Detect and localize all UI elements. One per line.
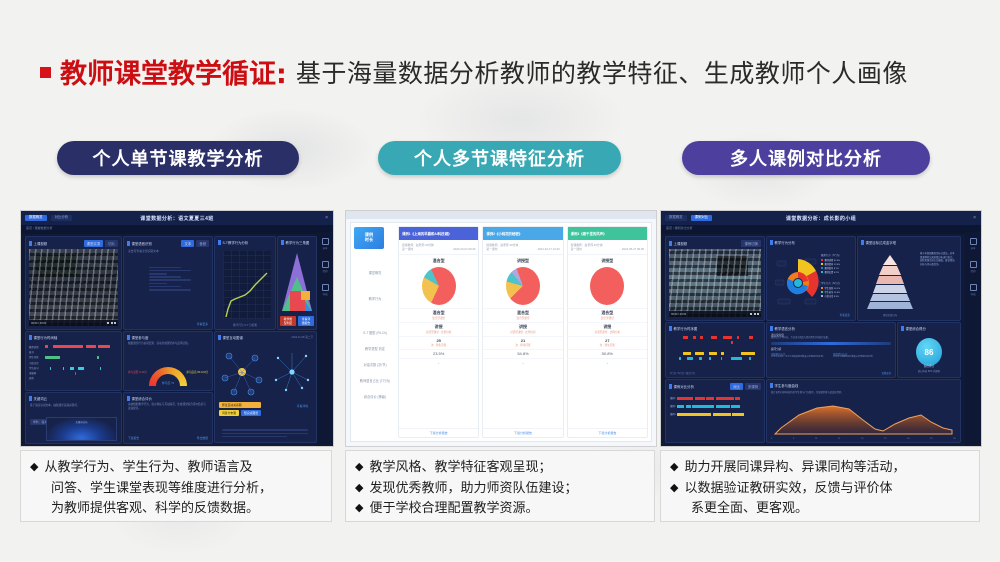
diamond-bullet-icon: ◆ <box>355 458 363 476</box>
dash2-col2-meta: 授课教师：赵老师 40分钟 第一课时2024-04-17 10:20 <box>483 240 562 255</box>
dash3-text-meter <box>771 342 891 345</box>
accent-bar-icon <box>127 396 130 401</box>
dash3-area-xticks: 0'5'10'15'20'25'30'35'40' <box>771 438 956 440</box>
accent-bar-icon <box>770 326 773 331</box>
dash3-card-radial[interactable]: 教学行为分布 教 <box>766 236 856 321</box>
dash1-pyramid-actions[interactable]: 教学类型判定 查看详细报告 <box>280 316 314 326</box>
dash2-col2-header: 课例2《小桃花的秘密》 <box>483 227 562 240</box>
dash2-row-labels: 课堂概况 教学行为 S-T 图型 (Rt-Ch) 教学类型 判定 对话次数 (次… <box>354 257 396 399</box>
dash3-compare-btn[interactable]: 对比 <box>730 383 743 390</box>
accent-bar-icon <box>29 241 32 246</box>
dash3-compare-tag[interactable]: 多课例 <box>745 383 761 390</box>
caption-line: 发现优秀教师，助力师资队伍建设； <box>369 479 645 499</box>
dash3-radial-legend-a: 教师行为（T行为） 教师讲授 32.5% 教师提问 12.4% 教师指导 8.7… <box>821 253 851 274</box>
accent-bar-icon <box>127 335 130 340</box>
dash3-card-text[interactable]: 教学语言分析 语言复杂度 教师语言平均句长、专业词汇密度与提问类型分布统计结果。… <box>766 322 896 378</box>
dash1-line-title: S-T教学行为分析 <box>223 240 249 245</box>
dash2-col3-stat-3: 27 次 · 师生问答 <box>568 336 647 349</box>
caption-single-lesson: ◆ 从教学行为、学生行为、教师语言及 问答、学生课堂表现等维度进行分析， 为教师… <box>20 450 332 522</box>
dash1-video-still[interactable]: 00:00 / 40:00 <box>29 249 118 326</box>
dash1-network-more[interactable]: 查看详情 <box>297 404 308 408</box>
dash2-col2-pie[interactable] <box>506 267 540 305</box>
dash1-btn-relation[interactable]: 师生互动关系图 <box>219 402 261 408</box>
dash2-col2-download[interactable]: 下载分析报告 <box>483 428 562 437</box>
caption-bullet: ◆ 发现优秀教师，助力师资队伍建设； <box>355 479 645 499</box>
dash2-col2-stat-1: 混合型 混合型课堂 <box>483 308 562 322</box>
dash1-transcript-btn-audio[interactable]: 音频 <box>196 240 209 247</box>
dash3-card-video[interactable]: 上课视频 课例切换 00:00 / 40:00 <box>665 236 765 321</box>
dash1-card-summary[interactable]: 课堂综合评价 系统根据教学行为、语言特征与互动情况，生成课堂综合评价结论与改进建… <box>123 392 213 444</box>
caption-line: 问答、学生课堂表现等维度进行分析， <box>51 479 322 499</box>
video-control-icons[interactable] <box>750 313 759 315</box>
dash1-line-header: S-T教学行为分析 <box>215 237 275 247</box>
dash1-btn-report[interactable]: 查看详细报告 <box>298 316 314 326</box>
caption-line-wrap: 为教师提供客观、科学的反馈数据。 <box>30 499 322 519</box>
accent-bar-icon <box>770 240 773 245</box>
dash3-card-compare[interactable]: 课例对比分析 对比 多课例 课例1 课例2 <box>665 379 765 443</box>
page-title: 教师课堂教学循证: 基于海量数据分析教师的教学特征、生成教师个人画像 <box>40 52 908 91</box>
dash2-col1-header: 课例1《上海的早晨和AI科技城》 <box>399 227 478 240</box>
dash1-summary-header: 课堂综合评价 <box>124 393 212 403</box>
dash3-card-score[interactable]: 课堂综合得分 86 综合评分 超过本校 82% 的课例 <box>897 322 961 378</box>
accent-bar-icon <box>669 241 672 246</box>
dash2-col3-download[interactable]: 下载分析报告 <box>568 428 647 437</box>
caption-multi-lesson: ◆ 教学风格、教学特征客观呈现； ◆ 发现优秀教师，助力师资队伍建设； ◆ 便于… <box>345 450 655 522</box>
dash3-text-block1: 高阶提问占比 引导学生分析、评价与创造的提问数量占全部提问的比例。 <box>771 352 829 359</box>
caption-bullet: ◆ 以数据验证教研实效，反馈与评价体 <box>670 479 970 499</box>
video-control-icons[interactable] <box>107 322 116 324</box>
caption-line: 系更全面、更客观。 <box>691 499 970 519</box>
dash1-gauge-value: 参与度 76 <box>124 381 212 385</box>
dash3-breadcrumb: 首页 / 课例对比分析 <box>661 225 981 234</box>
dash1-line-plot <box>223 251 271 319</box>
dash2-col2-stat-4: 54.8% <box>483 349 562 358</box>
dash3-radial-legend-b: 学生行为（S行为） 学生回答 14.1% 学生练习 11.8% 小组讨论 9.3… <box>821 281 851 298</box>
dash1-line-xlabel: 教学行为 S-T 分析图 <box>215 323 275 327</box>
dash3-video-header: 上课视频 课例切换 <box>666 237 764 249</box>
dash3-compare-header: 课例对比分析 对比 多课例 <box>666 380 764 392</box>
dash3-radial-title: 教学行为分布 <box>775 240 795 245</box>
caption-multi-teacher: ◆ 助力开展同课异构、异课同构等活动， ◆ 以数据验证教研实效，反馈与评价体 系… <box>660 450 980 522</box>
dash1-transcript-btn-text[interactable]: 文本 <box>181 240 194 247</box>
accent-bar-icon <box>127 241 130 246</box>
dash2-col1-pie[interactable] <box>422 267 456 305</box>
dash3-card-area[interactable]: 学生参与度曲线 统计每5分钟时间段内的学生参与行为频次，呈现课堂参与度变化趋势。… <box>766 379 961 443</box>
dash1-network-actions[interactable]: 师生互动关系图 问答分布图 知识点图谱 <box>219 402 261 416</box>
caption-line-wrap: 系更全面、更客观。 <box>670 499 970 519</box>
dash2-col1-stat-3: 25 次 · 师生问答 <box>399 336 478 349</box>
dash1-card-transcript[interactable]: 课堂语音识别 文本 音频 点击可查看全部识别文本 查看更多 <box>123 236 213 330</box>
dash1-video-time: 00:00 / 40:00 <box>31 322 46 325</box>
dash3-video-controls[interactable]: 00:00 / 40:00 <box>669 311 761 317</box>
diamond-bullet-icon: ◆ <box>30 458 38 476</box>
dash1-card-linechart[interactable]: S-T教学行为分析 教学行为 S-T 分析图 <box>214 236 276 330</box>
close-icon[interactable]: × <box>973 215 976 221</box>
page-title-strong: 教师课堂教学循证: <box>60 52 287 91</box>
dash1-video-header: 上课视频 课堂实录 切片 <box>26 237 121 249</box>
dash1-transcript-more[interactable]: 查看更多 <box>197 322 208 326</box>
dash1-gauge-header: 课堂参与度 <box>124 332 212 342</box>
dash3-text-title: 教学语言分析 <box>775 326 795 331</box>
dash1-gauge-title: 课堂参与度 <box>132 335 149 340</box>
dash2-col2-stat-3: 21 次 · 师生问答 <box>483 336 562 349</box>
dash3-header: 数据概览 课例对比 课堂数据分析：成长影的小组 × <box>661 211 981 225</box>
dash2-col1-stat-1: 混合型 混合型课堂 <box>399 308 478 322</box>
dash1-title: 课堂数据分析：语文夏夏三4班 <box>21 215 333 222</box>
dash1-btn-type[interactable]: 教学类型判定 <box>280 316 296 326</box>
pill-multi-lesson[interactable]: 个人多节课特征分析 <box>378 141 621 175</box>
dash3-video-still[interactable]: 00:00 / 40:00 <box>669 249 761 317</box>
dash2-col1-meta: 授课教师：赵老师 40分钟 第一课时2024-03-04 09:30 <box>399 240 478 255</box>
dash1-gauge-right: 参与度高 80-100分 <box>186 370 208 374</box>
dash2-col3-stat-2: 讲授 对话型课堂 · 比例分析 <box>568 322 647 336</box>
dash2-column-lesson1[interactable]: 课例1《上海的早晨和AI科技城》 授课教师：赵老师 40分钟 第一课时2024-… <box>398 226 479 438</box>
dash3-participation-area <box>771 402 956 435</box>
caption-line: 为教师提供客观、科学的反馈数据。 <box>51 499 322 519</box>
dash1-network-date: 2024-11-08 第二节 <box>291 335 313 339</box>
classroom-seats <box>669 249 761 317</box>
accent-bar-icon <box>218 335 221 340</box>
dash1-btn-qa[interactable]: 问答分布图 <box>219 410 239 416</box>
dash3-timeline-title: 教学行为时序图 <box>674 326 698 331</box>
dash1-card-gantt[interactable]: 课堂行为时间轴 教师讲授 板书 师生问答 小组讨论 学生练习 多媒体 其他 <box>25 331 122 391</box>
dash3-area-desc: 统计每5分钟时间段内的学生参与行为频次，呈现课堂参与度变化趋势。 <box>767 390 960 394</box>
diamond-bullet-icon: ◆ <box>670 479 678 497</box>
dash2-col3-header: 课例3《春千里的风声》 <box>568 227 647 240</box>
export-icon[interactable]: 导出 <box>970 284 977 296</box>
accent-bar-icon <box>861 240 864 245</box>
dash1-header: 数据概览 对比分析 课堂数据分析：语文夏夏三4班 × <box>21 211 333 225</box>
dash1-card-gauge[interactable]: 课堂参与度 根据课堂行为识别结果，自动生成课堂参与度评估值。 参与度低 0-40… <box>123 331 213 391</box>
accent-bar-icon <box>218 240 221 245</box>
dash2-col1-download[interactable]: 下载分析报告 <box>399 428 478 437</box>
diamond-bullet-icon: ◆ <box>355 479 363 497</box>
dash3-timeline-plot <box>669 336 761 369</box>
dash1-summary-title: 课堂综合评价 <box>132 396 152 401</box>
dash1-gantt-plot <box>45 345 118 387</box>
dashboard-multi-teacher[interactable]: 数据概览 课例对比 课堂数据分析：成长影的小组 × 首页 / 课例对比分析 上课… <box>660 210 982 447</box>
dash1-video-controls[interactable]: 00:00 / 40:00 <box>29 320 118 326</box>
dash2-col3-stat-1: 混合型 混合型课堂 <box>568 308 647 322</box>
dash2-col1-stat-2: 讲授 对话型课堂 · 比例分析 <box>399 322 478 336</box>
dash1-btn-kg[interactable]: 知识点图谱 <box>241 410 261 416</box>
dash3-radial-header: 教学行为分布 <box>767 237 855 247</box>
share-icon[interactable]: 分享 <box>322 238 329 250</box>
accent-bar-icon <box>770 383 773 388</box>
pill-multi-teacher[interactable]: 多人课例对比分析 <box>682 141 930 175</box>
page-title-rest: 基于海量数据分析教师的教学特征、生成教师个人画像 <box>296 54 908 90</box>
dash2-col1-stat-4: 23.5% <box>399 349 478 358</box>
dash2-col3-stat-5: - <box>568 358 647 428</box>
print-icon[interactable]: 打印 <box>322 261 329 273</box>
dash3-score-header: 课堂综合得分 <box>898 323 960 333</box>
dash3-video-title: 上课视频 <box>674 241 688 246</box>
dash3-pyramid-header: 课堂目标达成金字塔 <box>858 237 960 247</box>
dash1-card-pyramid[interactable]: 教学行为三角图 教学类型判定 查看详细报告 <box>277 236 317 330</box>
dash3-area-header: 学生参与度曲线 <box>767 380 960 390</box>
accent-bar-icon <box>29 335 32 340</box>
pill-single-lesson[interactable]: 个人单节课教学分析 <box>57 141 299 175</box>
dash3-score-title: 课堂综合得分 <box>906 326 926 331</box>
dash1-transcript-header: 课堂语音识别 文本 音频 <box>124 237 212 249</box>
dash1-video-btn-record[interactable]: 课堂实录 <box>84 240 104 247</box>
dashboard-single-lesson[interactable]: 数据概览 对比分析 课堂数据分析：语文夏夏三4班 × 首页 / 课堂数据分析 上… <box>20 210 334 447</box>
dash3-timeline-legend: T行为 / S行为 / 混合行为 <box>670 371 695 375</box>
dash2-col2-stat-2: 讲授 对话型课堂 · 比例分析 <box>483 322 562 336</box>
dash1-transcript-note: 点击可查看全部识别文本 <box>124 249 212 253</box>
dash1-card-video[interactable]: 上课视频 课堂实录 切片 00:00 / 40:00 <box>25 236 122 330</box>
dash2-col2-stat-5: - <box>483 358 562 428</box>
dash3-compare-rows: 课例1 课例2 课例3 <box>670 396 760 416</box>
dash1-summary-desc: 系统根据教学行为、语言特征与互动情况，生成课堂综合评价结论与改进建议。 <box>124 403 212 411</box>
dash1-transcript-body <box>146 265 192 292</box>
accent-bar-icon <box>669 384 672 389</box>
dash2-left-column: 课例时长 课堂概况 教学行为 S-T 图型 (Rt-Ch) 教学类型 判定 对话… <box>351 223 398 441</box>
dash1-gantt-title: 课堂行为时间轴 <box>34 335 58 340</box>
dash3-text-sub2: 提问分析 <box>771 347 891 351</box>
dash3-behavior-radial <box>775 253 821 313</box>
dash1-video-title: 上课视频 <box>34 241 48 246</box>
classroom-seats <box>29 249 118 326</box>
dash2-col1-stat-5: - <box>399 358 478 428</box>
caption-bullet: ◆ 从教学行为、学生行为、教师语言及 <box>30 458 322 478</box>
dash1-gantt-header: 课堂行为时间轴 <box>26 332 121 342</box>
dash1-gauge-left: 参与度低 0-40分 <box>128 370 147 374</box>
dash3-text-more[interactable]: 查看更多 <box>881 371 891 375</box>
dash2-col3-stat-4: 50.8% <box>568 349 647 358</box>
accent-bar-icon <box>29 396 32 401</box>
dash1-summary-export[interactable]: 导出数据 <box>197 436 208 440</box>
dash1-wordcloud-plot: 关键词分布 <box>46 417 117 441</box>
dash3-bloom-pyramid <box>864 253 916 311</box>
dash1-pyramid-header: 教学行为三角图 <box>278 237 316 247</box>
caption-line-wrap: 问答、学生课堂表现等维度进行分析， <box>30 479 322 499</box>
dash3-pyramid-title: 课堂目标达成金字塔 <box>866 240 897 245</box>
dash1-pyramid-title: 教学行为三角图 <box>286 240 310 245</box>
dash1-triangle-chart <box>281 251 313 313</box>
print-icon[interactable]: 打印 <box>970 261 977 273</box>
dash1-gantt-labels: 教师讲授 板书 师生问答 小组讨论 学生练习 多媒体 其他 <box>29 345 43 381</box>
dash3-score-label: 综合评分 <box>898 364 960 368</box>
dash2-columns: 课例1《上海的早晨和AI科技城》 授课教师：赵老师 40分钟 第一课时2024-… <box>398 223 651 441</box>
dash3-timeline-header: 教学行为时序图 <box>666 323 764 333</box>
caption-bullet: ◆ 教学风格、教学特征客观呈现； <box>355 458 645 478</box>
dash3-text-block2: 低阶提问占比 记忆性与理解性提问数量占全部提问的比例。 <box>833 352 891 359</box>
export-icon[interactable]: 导出 <box>322 284 329 296</box>
dash1-wordcloud-desc: 基于语音识别文本，抽取课堂高频关键词。 <box>26 403 121 407</box>
dash1-gauge-desc: 根据课堂行为识别结果，自动生成课堂参与度评估值。 <box>124 342 212 346</box>
dash2-col1-chart-title: 混合型 <box>399 258 478 264</box>
dash1-wordcloud-title: 关键词云 <box>34 396 48 401</box>
diamond-bullet-icon: ◆ <box>670 458 678 476</box>
accent-bar-icon <box>901 326 904 331</box>
dash3-video-time: 00:00 / 40:00 <box>671 313 686 316</box>
dash3-title: 课堂数据分析：成长影的小组 <box>661 215 981 222</box>
caption-line: 教学风格、教学特征客观呈现； <box>369 458 645 478</box>
dash3-radial-more[interactable]: 查看更多 <box>840 313 850 317</box>
close-icon[interactable]: × <box>325 215 328 221</box>
dash1-transcript-title: 课堂语音识别 <box>132 241 152 246</box>
dash1-right-rail[interactable]: 分享 打印 导出 <box>317 232 333 446</box>
dash3-text-desc1: 教师语言平均句长、专业词汇密度与提问类型分布统计结果。 <box>771 337 891 340</box>
dash3-score-badge: 86 <box>916 338 942 366</box>
square-bullet-icon <box>40 67 51 78</box>
dash2-col3-pie[interactable] <box>590 267 624 305</box>
dash3-card-pyramid[interactable]: 课堂目标达成金字塔 课堂层级分布 基于布鲁姆教育目标分类法，对本组课例的认知层级… <box>857 236 961 321</box>
diamond-bullet-icon: ◆ <box>355 499 363 517</box>
dash1-interaction-graph <box>219 346 265 398</box>
dash2-column-lesson3[interactable]: 课例3《春千里的风声》 授课教师：赵老师 40分钟 第一课时2024-05-27… <box>567 226 648 438</box>
caption-line: 助力开展同课异构、异课同构等活动， <box>684 458 970 478</box>
dash1-network-title: 课堂互动图谱 <box>223 335 243 340</box>
st-line-path <box>223 251 271 319</box>
accent-bar-icon <box>669 326 672 331</box>
dashboard-multi-lesson[interactable]: 课例时长 课堂概况 教学行为 S-T 图型 (Rt-Ch) 教学类型 判定 对话… <box>345 210 657 447</box>
dash1-breadcrumb: 首页 / 课堂数据分析 <box>21 225 333 234</box>
dash1-wordcloud-header: 关键词云 <box>26 393 121 403</box>
caption-line: 以数据验证教研实效，反馈与评价体 <box>684 479 970 499</box>
dash1-card-network[interactable]: 课堂互动图谱 2024-11-08 第二节 <box>214 331 317 443</box>
dash3-text-header: 教学语言分析 <box>767 323 895 333</box>
caption-line: 从教学行为、学生行为、教师语言及 <box>44 458 322 478</box>
dash2-column-lesson2[interactable]: 课例2《小桃花的秘密》 授课教师：赵老师 40分钟 第一课时2024-04-17… <box>482 226 563 438</box>
dash1-summary-download[interactable]: 下载报告 <box>128 436 139 440</box>
dash1-video-btn-clip[interactable]: 切片 <box>105 240 118 247</box>
dash3-card-timeline[interactable]: 教学行为时序图 <box>665 322 765 378</box>
dash1-network-header: 课堂互动图谱 2024-11-08 第二节 <box>215 332 316 342</box>
dash3-score-sub: 超过本校 82% 的课例 <box>898 369 960 373</box>
share-icon[interactable]: 分享 <box>970 238 977 250</box>
dash2-col3-meta: 授课教师：赵老师 40分钟 第一课时2024-05-27 09:05 <box>568 240 647 255</box>
dash2-topbar <box>346 211 656 219</box>
dash3-pyramid-xlabel: 课堂层级分布 <box>864 313 916 317</box>
dash3-compare-title: 课例对比分析 <box>674 384 694 389</box>
dash1-wordcloud-legend: 关键词分布 <box>47 420 116 424</box>
app-logo: 课例时长 <box>354 227 384 249</box>
dash3-pyramid-note: 基于布鲁姆教育目标分类法，对本组课例的认知层级分布进行统计，高阶思维活动占比偏低… <box>920 253 956 268</box>
dash1-network-footer-text <box>219 428 312 439</box>
dash3-right-rail[interactable]: 分享 打印 导出 <box>965 232 981 446</box>
dash1-knowledge-graph <box>272 350 312 394</box>
accent-bar-icon <box>281 240 284 245</box>
caption-line: 便于学校合理配置教学资源。 <box>369 499 645 519</box>
caption-bullet: ◆ 便于学校合理配置教学资源。 <box>355 499 645 519</box>
dash3-area-title: 学生参与度曲线 <box>775 383 799 388</box>
dash3-video-select[interactable]: 课例切换 <box>741 240 761 247</box>
dash1-card-wordcloud[interactable]: 关键词云 基于语音识别文本，抽取课堂高频关键词。 学科：语文 关键词分布 <box>25 392 122 444</box>
dash2-col3-chart-title: 讲授型 <box>568 258 647 264</box>
caption-bullet: ◆ 助力开展同课异构、异课同构等活动， <box>670 458 970 478</box>
dash2-col2-chart-title: 讲授型 <box>483 258 562 264</box>
